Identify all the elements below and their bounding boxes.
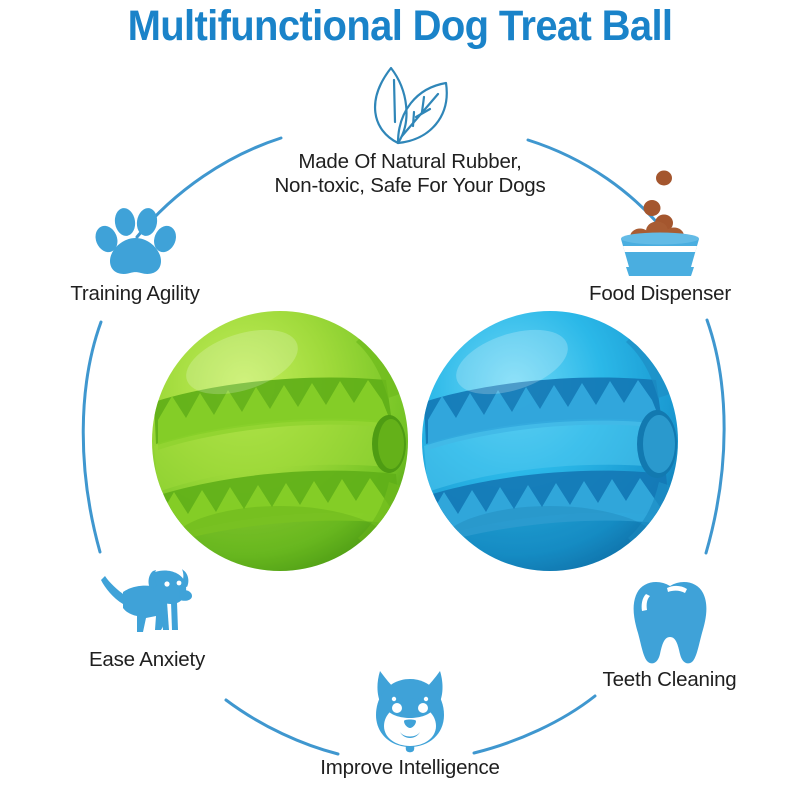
feature-natural-rubber: Made Of Natural Rubber,Non-toxic, Safe F…: [250, 60, 570, 198]
feature-label: Ease Anxiety: [52, 648, 242, 672]
feature-ease-anxiety: Ease Anxiety: [52, 558, 242, 672]
feature-label: Teeth Cleaning: [562, 668, 777, 692]
bowl-rim-band: [623, 246, 697, 252]
feature-teeth-cleaning: Teeth Cleaning: [562, 580, 777, 692]
paw-print-icon: [40, 206, 230, 280]
feature-food-dispenser: Food Dispenser: [555, 168, 765, 306]
natural-rubber-line-2: Non-toxic, Safe For Your Dogs: [274, 174, 545, 197]
tooth-icon: [562, 580, 777, 666]
arc-bowl-to-tooth: [706, 320, 724, 553]
arc-paw-to-dog: [83, 322, 101, 552]
feature-label: Made Of Natural Rubber,Non-toxic, Safe F…: [250, 150, 570, 198]
product-infographic: Multifunctional Dog Treat Ball: [0, 0, 800, 800]
leaf-icon: [250, 60, 570, 148]
bowl-base: [626, 267, 694, 276]
feature-improve-intelligence: Improve Intelligence: [290, 668, 530, 780]
bowl-top-ellipse: [621, 233, 699, 245]
feature-label: Improve Intelligence: [290, 756, 530, 780]
page-title: Multifunctional Dog Treat Ball: [28, 2, 772, 51]
natural-rubber-line-1: Made Of Natural Rubber,: [298, 150, 521, 173]
dog-face-icon: [290, 668, 530, 754]
feature-training-agility: Training Agility: [40, 206, 230, 306]
green-dog-treat-ball: [150, 310, 410, 572]
feature-label: Food Dispenser: [555, 282, 765, 306]
tooth-body: [633, 582, 706, 663]
feature-label: Training Agility: [40, 282, 230, 306]
dog-food-bowl-icon: [555, 168, 765, 280]
blue-dog-treat-ball: [420, 310, 680, 572]
